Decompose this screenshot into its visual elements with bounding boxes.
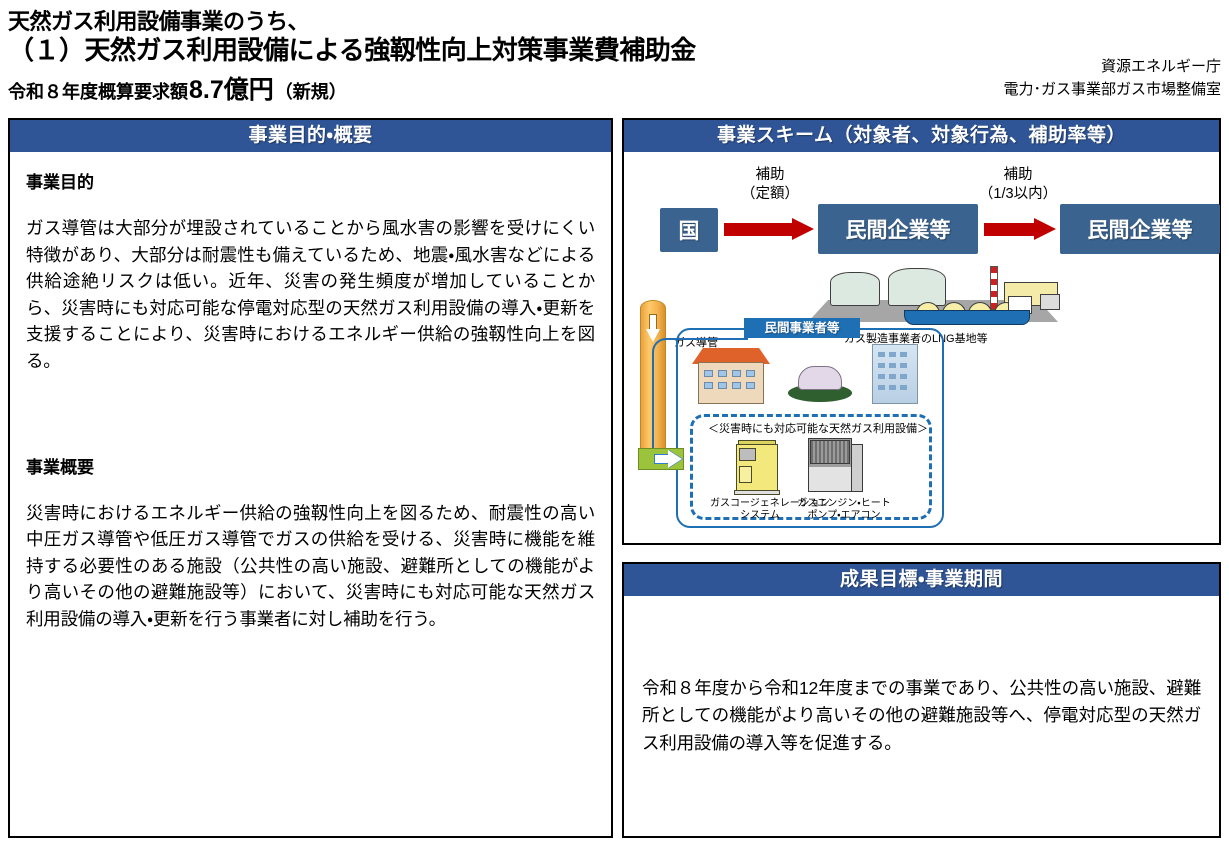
caption-ghp-line1: ガスエンジン・ヒート <box>796 498 892 510</box>
caption-gas-heat-pump: ガスエンジン・ヒート ポンプ・エアコン <box>796 498 892 522</box>
section-text-goal: 令和８年度から令和12年度までの事業であり、公共性の高い施設、避難所としての機能… <box>642 675 1201 756</box>
window-icon <box>889 363 896 368</box>
gas-heat-pump-icon <box>808 438 864 496</box>
school-building-icon <box>692 348 770 404</box>
agency-name: 資源エネルギー庁 <box>1003 56 1221 79</box>
panel-scheme-body: 補助 （定額） 補助 （1/3以内） 国 民間企業等 民間企業等 <box>624 152 1219 543</box>
panel-project-scheme: 事業スキーム（対象者、対象行為、補助率等） 補助 （定額） 補助 （1/3以内）… <box>622 118 1221 545</box>
document-header: 天然ガス利用設備事業のうち、 （１）天然ガス利用設備による強靱性向上対策事業費補… <box>0 0 1229 112</box>
section-text-purpose: ガス導管は大部分が埋設されていることから風水害の影響を受けにくい特徴があり、大部… <box>26 215 595 375</box>
window-icon <box>704 382 713 389</box>
budget-amount: 8.7億円 <box>189 70 274 106</box>
flow-label-subsidy-fixed: 補助 （定額） <box>734 166 806 203</box>
agency-department: 電力･ガス事業部ガス市場整備室 <box>1003 79 1221 102</box>
flow-arrow-right-icon-1 <box>724 218 814 240</box>
flow-label-subsidy-rate: 補助 （1/3以内） <box>970 166 1066 203</box>
lng-tank-icon-1 <box>830 272 880 306</box>
section-heading-purpose: 事業目的 <box>26 168 597 193</box>
access-door <box>739 466 752 483</box>
arrow-head <box>1034 218 1056 240</box>
window-icon <box>900 385 907 390</box>
window-icon <box>900 363 907 368</box>
chimney-icon <box>990 266 998 310</box>
flow-node-private-company-2: 民間企業等 <box>1060 204 1220 254</box>
arrow-shaft <box>984 223 1034 236</box>
panel-goal-body: 令和８年度から令和12年度までの事業であり、公共性の高い施設、避難所としての機能… <box>624 596 1219 836</box>
title-line-2: （１）天然ガス利用設備による強靱性向上対策事業費補助金 <box>8 30 696 67</box>
flow-node-private-company-1: 民間企業等 <box>818 204 978 254</box>
budget-suffix: （新規） <box>275 78 347 104</box>
panel-purpose-header: 事業目的・概要 <box>10 120 611 152</box>
gymnasium-building-icon <box>788 362 852 404</box>
window-icon <box>718 382 727 389</box>
window-icon <box>878 374 885 379</box>
caption-equipment-title: ＜災害時にも対応可能な天然ガス利用設備＞ <box>708 420 928 436</box>
arrow-shaft <box>724 223 792 236</box>
window-icon <box>900 374 907 379</box>
lng-tank-icon-2 <box>888 268 946 306</box>
window-icon <box>878 385 885 390</box>
arrow-head <box>668 450 682 468</box>
panel-goals-and-period: 成果目標・事業期間 令和８年度から令和12年度までの事業であり、公共性の高い施設… <box>622 562 1221 838</box>
panel-goal-header: 成果目標・事業期間 <box>624 564 1219 596</box>
window-icon <box>900 352 907 357</box>
scheme-illustration: ガス製造事業者のLNG基地等 ガス導管 民間事業者等 <box>632 266 1212 538</box>
window-icon <box>732 370 741 377</box>
budget-prefix: 令和８年度概算要求額 <box>8 78 188 104</box>
supply-arrow-icon <box>654 450 684 468</box>
unit-grill <box>810 440 850 464</box>
scheme-flow-diagram: 補助 （定額） 補助 （1/3以内） 国 民間企業等 民間企業等 <box>638 166 1205 244</box>
caption-cogen-line2: システム <box>710 510 810 522</box>
caption-private-operators: 民間事業者等 <box>744 318 860 338</box>
flow-label-1-line1: 補助 <box>734 166 806 185</box>
unit-base <box>734 490 780 495</box>
budget-request-line: 令和８年度概算要求額 8.7億円 （新規） <box>8 70 347 106</box>
dome-shape <box>798 366 842 390</box>
plant-annex-icon <box>1040 294 1060 310</box>
window-icon <box>878 363 885 368</box>
window-icon <box>704 370 713 377</box>
section-heading-overview: 事業概要 <box>26 453 597 478</box>
panel-scheme-header: 事業スキーム（対象者、対象行為、補助率等） <box>624 120 1219 152</box>
office-building-icon <box>872 344 918 404</box>
window-icon <box>746 382 755 389</box>
caption-ghp-line2: ポンプ・エアコン <box>796 510 892 522</box>
panel-project-purpose: 事業目的・概要 事業目的 ガス導管は大部分が埋設されていることから風水害の影響を… <box>8 118 613 838</box>
section-text-overview: 災害時におけるエネルギー供給の強靱性向上を図るため、耐震性の高い中圧ガス導管や低… <box>26 500 595 633</box>
arrow-head <box>792 218 814 240</box>
arrow-shaft <box>649 314 657 330</box>
flow-label-2-line2: （1/3以内） <box>970 185 1066 204</box>
window-icon <box>746 370 755 377</box>
flow-arrow-right-icon-2 <box>984 218 1056 240</box>
caption-gas-cogeneration: ガスコージェネレーション システム <box>710 498 810 522</box>
caption-cogen-line1: ガスコージェネレーション <box>710 498 810 510</box>
issuing-agency: 資源エネルギー庁 電力･ガス事業部ガス市場整備室 <box>1003 56 1221 101</box>
window-icon <box>878 352 885 357</box>
control-panel <box>739 448 756 461</box>
window-icon <box>732 382 741 389</box>
lng-tanker-ship-icon <box>904 310 1030 325</box>
window-icon <box>718 370 727 377</box>
window-icon <box>889 352 896 357</box>
flow-node-country: 国 <box>660 208 718 252</box>
section-spacer <box>24 375 597 447</box>
flow-label-1-line2: （定額） <box>734 185 806 204</box>
gas-cogeneration-system-icon <box>736 440 782 496</box>
panel-purpose-body: 事業目的 ガス導管は大部分が埋設されていることから風水害の影響を受けにくい特徴が… <box>10 152 611 836</box>
window-icon <box>889 385 896 390</box>
flow-label-2-line1: 補助 <box>970 166 1066 185</box>
window-icon <box>889 374 896 379</box>
